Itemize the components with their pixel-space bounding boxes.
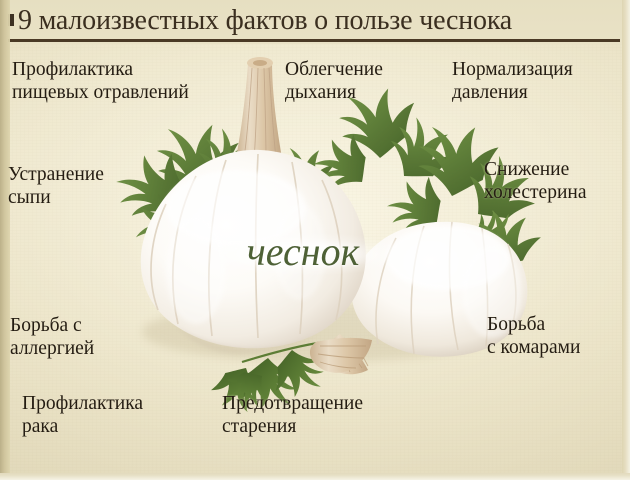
fact-label-rash-elimination: Устранение сыпи — [8, 163, 104, 209]
fact-label-aging-prevention: Предотвращение старения — [222, 392, 363, 438]
title-bar: 9 малоизвестных фактов о пользе чеснока — [0, 0, 630, 44]
fact-label-blood-pressure-normalization: Нормализация давления — [452, 58, 573, 104]
wordmark-chesnok: чеснок — [196, 228, 410, 276]
fact-label-cholesterol-reduction: Снижение холестерина — [484, 158, 586, 204]
title-underline — [8, 39, 620, 42]
fact-label-cancer-prevention: Профилактика рака — [22, 392, 143, 438]
fact-label-food-poisoning-prevention: Профилактика пищевых отравлений — [12, 58, 189, 104]
fact-label-breathing-relief: Облегчение дыхания — [285, 58, 383, 104]
page-title: 9 малоизвестных фактов о пользе чеснока — [18, 3, 618, 39]
fact-label-mosquito-fight: Борьба с комарами — [487, 313, 580, 359]
bottom-edge-strip — [0, 473, 630, 480]
fact-label-allergy-fight: Борьба с аллергией — [10, 314, 94, 360]
infographic-poster: чеснок 9 малоизвестных фактов о пользе ч… — [0, 0, 630, 480]
